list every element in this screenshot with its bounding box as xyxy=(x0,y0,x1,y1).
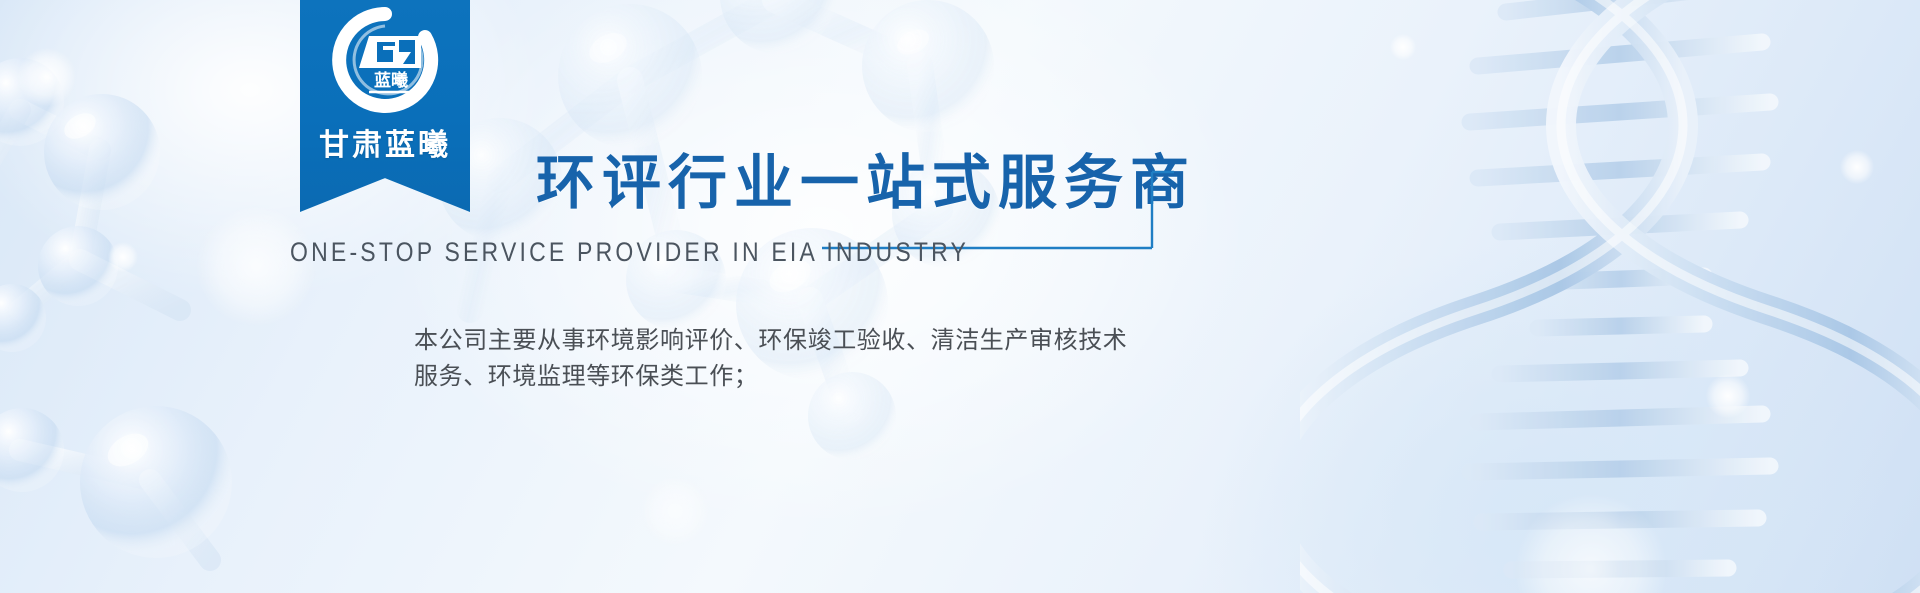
description-line-1: 本公司主要从事环境影响评价、环保竣工验收、清洁生产审核技术 xyxy=(414,322,1204,358)
bokeh-dot xyxy=(108,242,138,272)
hero-banner: 蓝曦 甘肃蓝曦 环评行业一站式服务商 ONE-STOP SERVICE PROV… xyxy=(0,0,1920,593)
bokeh-dot xyxy=(640,476,710,546)
description-line-2: 服务、环境监理等环保类工作； xyxy=(414,358,1204,394)
company-logo-emblem: 蓝曦 xyxy=(325,6,445,118)
bokeh-dot xyxy=(1516,494,1666,593)
bokeh-dot xyxy=(1390,34,1416,60)
bokeh-dot xyxy=(1706,374,1750,418)
company-name-badge: 甘肃蓝曦 xyxy=(319,120,451,164)
subtitle-english: ONE-STOP SERVICE PROVIDER IN EIA INDUSTR… xyxy=(290,236,969,268)
logo-wordmark: 蓝曦 xyxy=(374,70,408,91)
description-paragraph: 本公司主要从事环境影响评价、环保竣工验收、清洁生产审核技术 服务、环境监理等环保… xyxy=(414,322,1204,394)
dna-helix-decoration xyxy=(1300,0,1920,593)
company-badge-ribbon: 蓝曦 甘肃蓝曦 xyxy=(300,0,470,212)
bokeh-dot xyxy=(18,48,76,106)
headline-title: 环评行业一站式服务商 xyxy=(536,135,1196,220)
bokeh-dot xyxy=(1840,150,1874,184)
